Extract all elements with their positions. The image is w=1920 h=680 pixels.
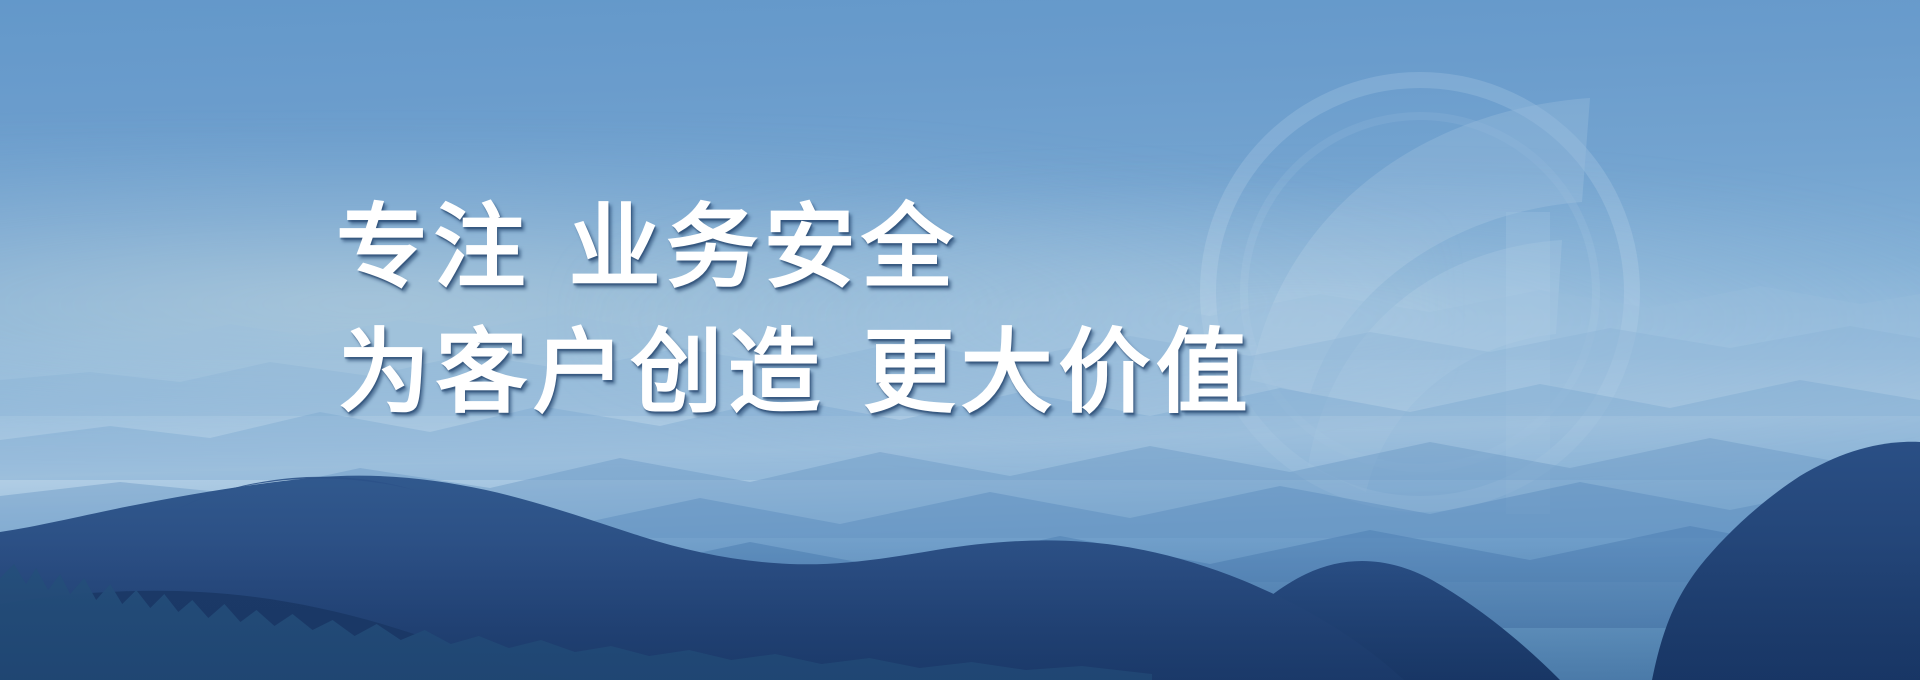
hero-banner: 专注 业务安全 为客户创造 更大价值 <box>0 0 1920 680</box>
headline-line-2: 为客户创造 更大价值 <box>338 321 1436 424</box>
pine-tree-silhouettes <box>0 550 1152 680</box>
headline-line-1: 专注 业务安全 <box>336 196 1436 299</box>
headline-block: 专注 业务安全 为客户创造 更大价值 <box>336 196 1436 424</box>
